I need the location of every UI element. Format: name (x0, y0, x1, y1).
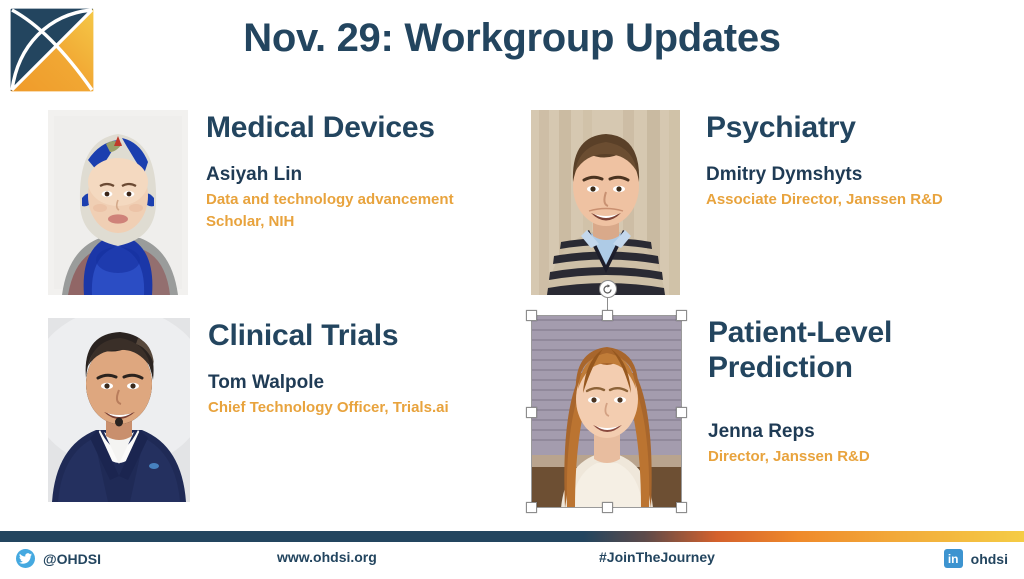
presenter-name: Dmitry Dymshyts (706, 163, 1011, 187)
presenter-name: Tom Walpole (208, 371, 518, 395)
resize-handle-middle-right[interactable] (676, 407, 687, 418)
footer-twitter[interactable]: @OHDSI (16, 549, 101, 568)
linkedin-in-icon: in (944, 549, 963, 568)
workgroup-text: Patient-Level Prediction Jenna Reps Dire… (682, 315, 1011, 467)
twitter-bird-icon (16, 549, 35, 568)
workgroup-text: Medical Devices Asiyah Lin Data and tech… (188, 110, 518, 233)
footer-hashtag[interactable]: #JoinTheJourney (599, 549, 715, 565)
footer-bar: @OHDSI www.ohdsi.org #JoinTheJourney in … (0, 542, 1024, 579)
workgroup-block-medical-devices: Medical Devices Asiyah Lin Data and tech… (48, 110, 518, 295)
workgroup-text: Psychiatry Dmitry Dymshyts Associate Dir… (680, 110, 1011, 211)
website-label: www.ohdsi.org (277, 549, 377, 565)
photo-frame-selected[interactable] (531, 315, 682, 508)
presenter-name: Asiyah Lin (206, 163, 518, 187)
resize-handle-top-left[interactable] (526, 310, 537, 321)
footer-gradient-bar (0, 531, 1024, 542)
dmitry-dymshyts-headshot[interactable] (531, 110, 680, 295)
page-title: Nov. 29: Workgroup Updates (0, 14, 1024, 62)
footer-linkedin[interactable]: in ohdsi (944, 549, 1008, 568)
twitter-handle-label: @OHDSI (43, 551, 101, 567)
resize-handle-top-center[interactable] (602, 310, 613, 321)
workgroup-block-clinical-trials: Clinical Trials Tom Walpole Chief Techno… (48, 318, 518, 502)
presenter-role: Data and technology advancement Scholar,… (206, 189, 506, 233)
asiyah-lin-headshot[interactable] (48, 110, 188, 295)
resize-handle-bottom-left[interactable] (526, 502, 537, 513)
presenter-name: Jenna Reps (708, 420, 1011, 444)
footer-website[interactable]: www.ohdsi.org (277, 549, 377, 565)
presenter-role: Director, Janssen R&D (708, 446, 1011, 468)
workgroup-title: Medical Devices (206, 110, 518, 145)
workgroup-text: Clinical Trials Tom Walpole Chief Techno… (190, 318, 518, 419)
presenter-role: Chief Technology Officer, Trials.ai (208, 397, 508, 419)
slide-canvas: Nov. 29: Workgroup Updates (0, 0, 1024, 576)
workgroup-title: Psychiatry (706, 110, 1011, 145)
photo-frame[interactable] (531, 110, 680, 295)
linkedin-handle-label: ohdsi (971, 551, 1008, 567)
photo-frame[interactable] (48, 110, 188, 295)
hashtag-label: #JoinTheJourney (599, 549, 715, 565)
photo-frame[interactable] (48, 318, 190, 502)
resize-handle-top-right[interactable] (676, 310, 687, 321)
resize-handle-bottom-center[interactable] (602, 502, 613, 513)
workgroup-block-patient-level-prediction: Patient-Level Prediction Jenna Reps Dire… (531, 315, 1011, 508)
rotate-handle[interactable] (599, 280, 617, 298)
resize-handle-bottom-right[interactable] (676, 502, 687, 513)
workgroup-title: Clinical Trials (208, 318, 518, 353)
workgroup-block-psychiatry: Psychiatry Dmitry Dymshyts Associate Dir… (531, 110, 1011, 295)
jenna-reps-headshot[interactable] (531, 315, 682, 508)
resize-handle-middle-left[interactable] (526, 407, 537, 418)
presenter-role: Associate Director, Janssen R&D (706, 189, 1006, 211)
tom-walpole-headshot[interactable] (48, 318, 190, 502)
workgroup-title: Patient-Level Prediction (708, 315, 1011, 386)
